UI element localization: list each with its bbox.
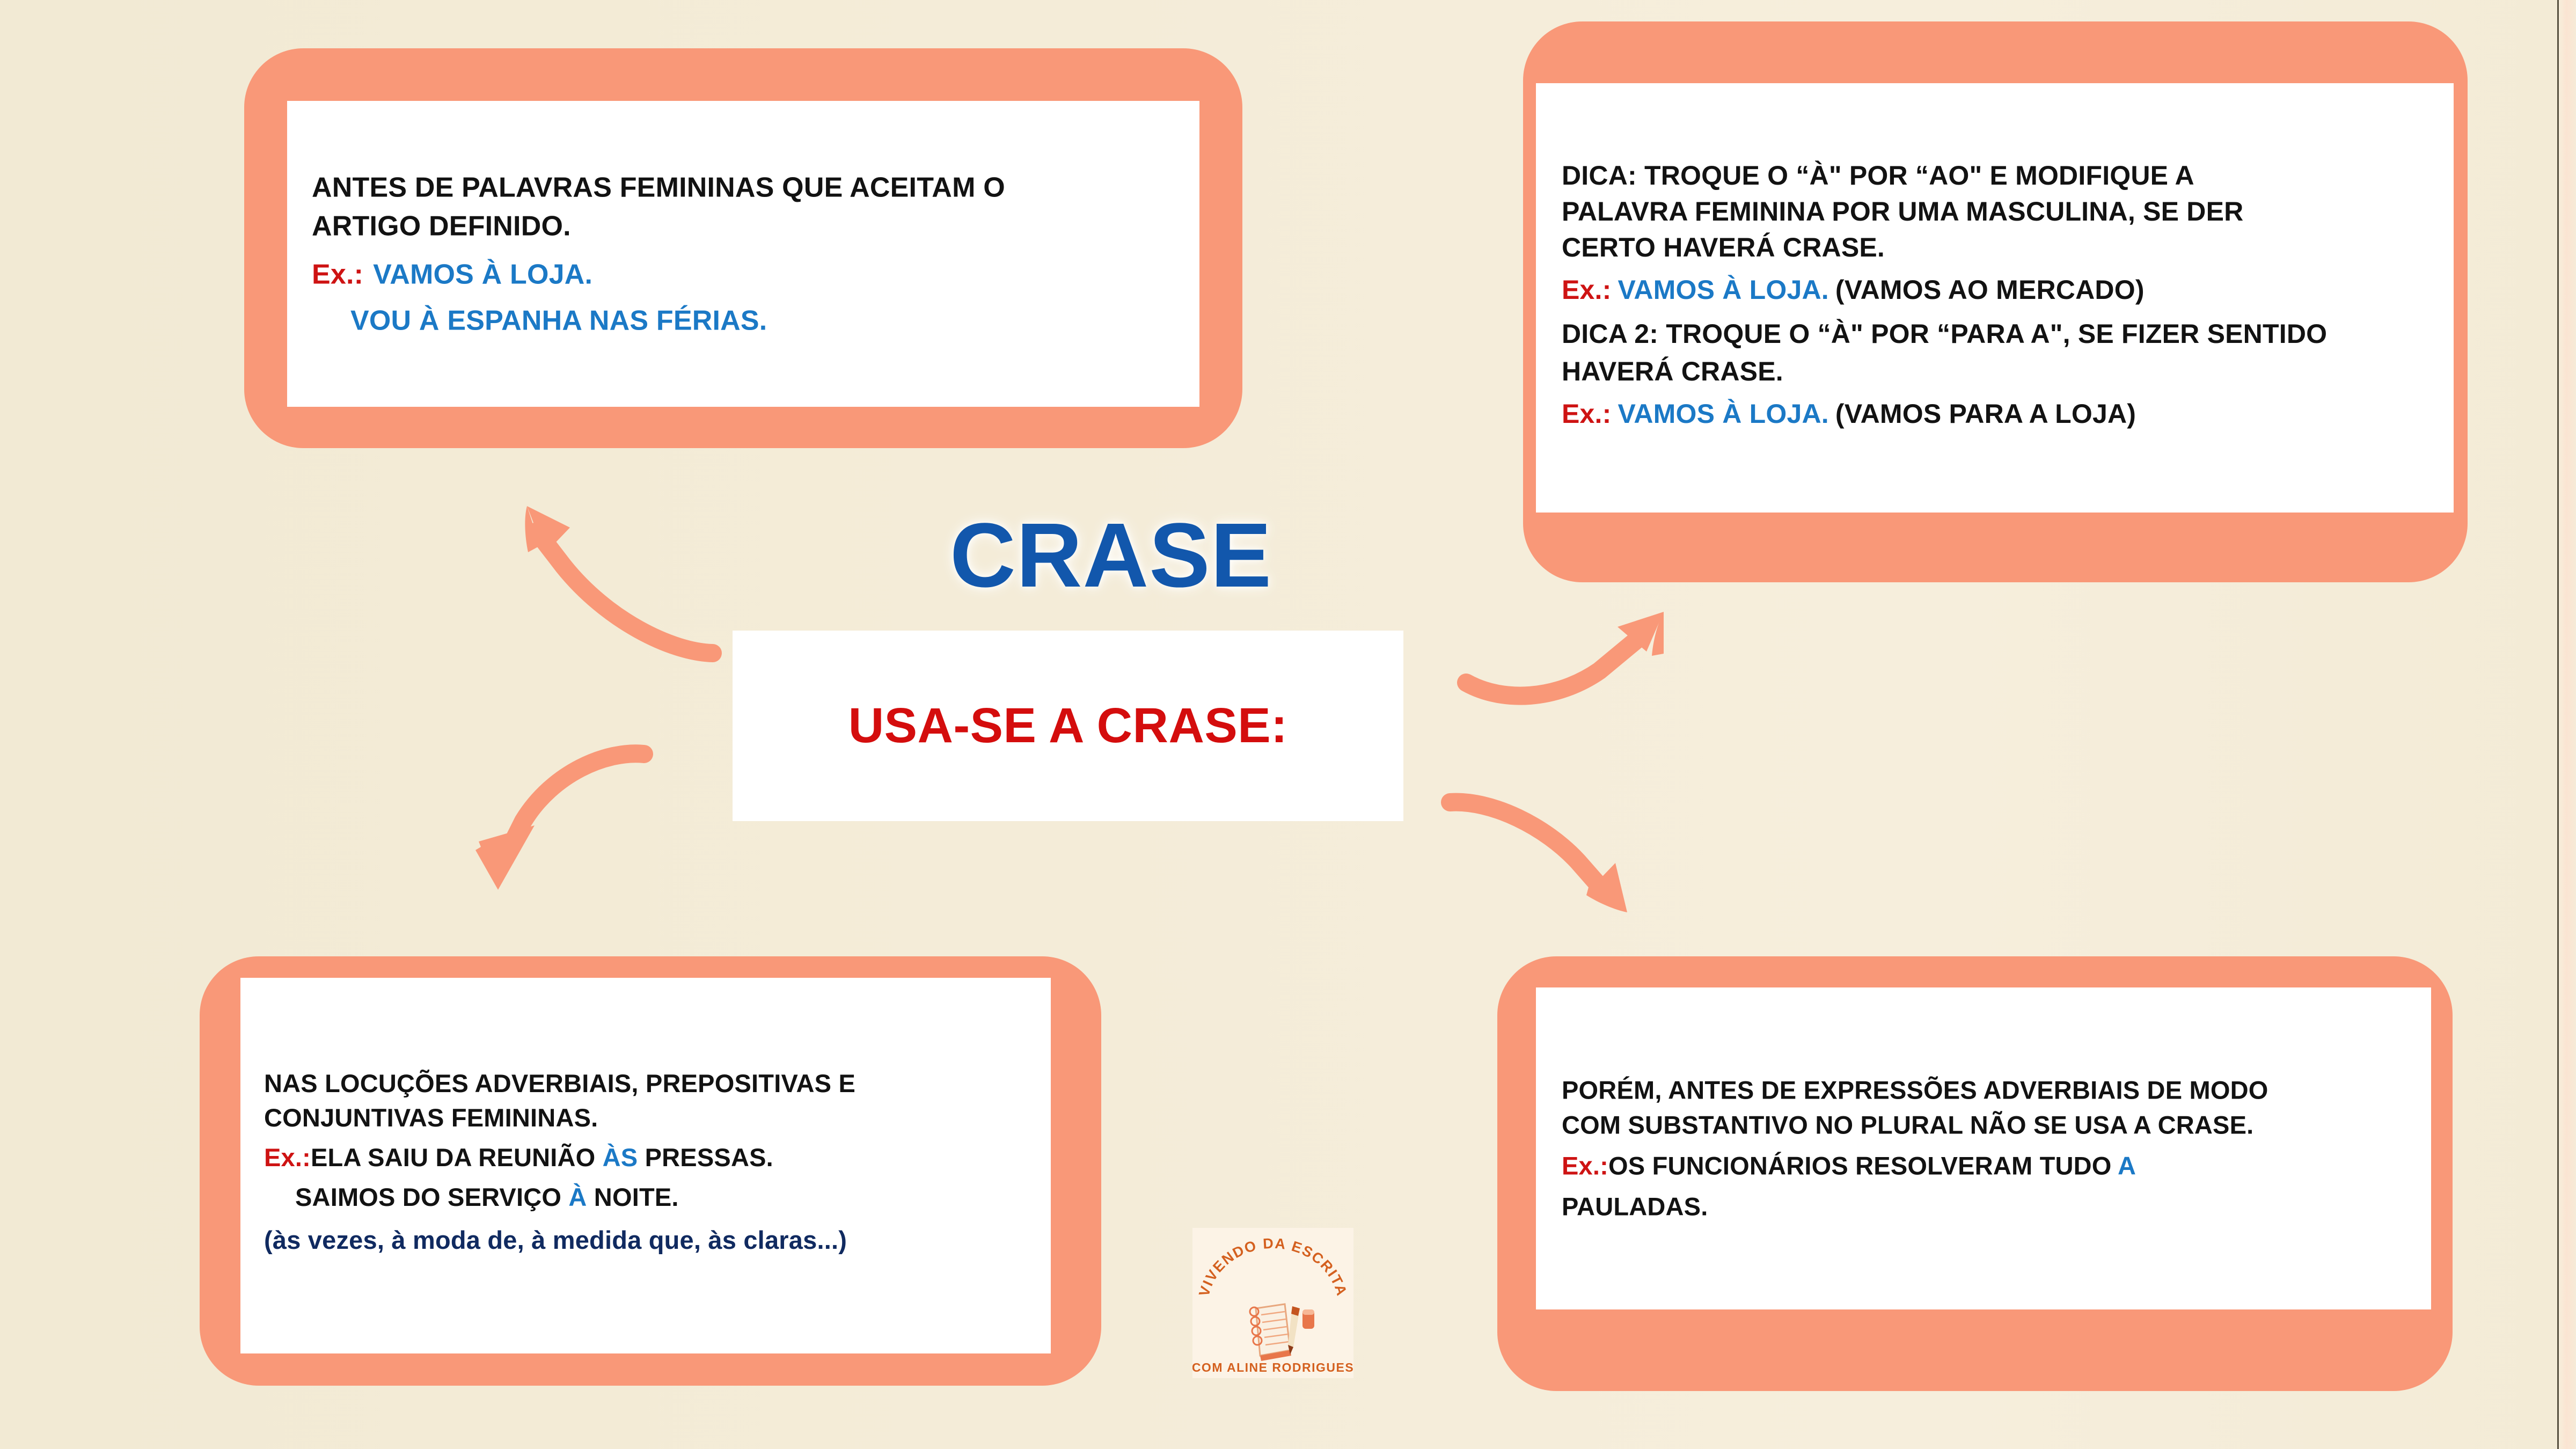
example-text: VAMOS À LOJA. bbox=[373, 259, 592, 290]
arrow-to-bottom-right bbox=[1428, 746, 1707, 928]
panel-card-bottom-right[interactable]: PORÉM, ANTES DE EXPRESSÕES ADVERBIAIS DE… bbox=[1536, 987, 2431, 1309]
text-line-example: Ex.:ELA SAIU DA REUNIÃO ÀS PRESSAS. bbox=[264, 1135, 1027, 1180]
panel-text-bottom-left: NAS LOCUÇÕES ADVERBIAIS, PREPOSITIVAS E … bbox=[240, 1066, 1051, 1265]
eraser-icon bbox=[1302, 1309, 1314, 1329]
svg-text:VIVENDO DA ESCRITA: VIVENDO DA ESCRITA bbox=[1196, 1235, 1350, 1298]
panel-card-top-right[interactable]: DICA: TROQUE O “À" POR “AO" E MODIFIQUE … bbox=[1536, 83, 2454, 513]
notebook-icon bbox=[1250, 1304, 1291, 1361]
right-edge-divider bbox=[2557, 0, 2559, 1449]
example-label: Ex.: bbox=[264, 1143, 311, 1172]
text-line-example: Ex.:VAMOS À LOJA.(VAMOS AO MERCADO) bbox=[1562, 266, 2428, 314]
arrow-to-top-right bbox=[1433, 596, 1701, 767]
slide-canvas: ANTES DE PALAVRAS FEMININAS QUE ACEITAM … bbox=[0, 0, 2576, 1449]
logo-bottom-text: COM ALINE RODRIGUES bbox=[1192, 1360, 1353, 1374]
text-line: ANTES DE PALAVRAS FEMININAS QUE ACEITAM … bbox=[312, 169, 1175, 208]
panel-card-top-left[interactable]: ANTES DE PALAVRAS FEMININAS QUE ACEITAM … bbox=[287, 101, 1199, 407]
crase-highlight: À bbox=[568, 1183, 587, 1212]
example-text: ELA SAIU DA REUNIÃO bbox=[311, 1143, 603, 1172]
pencil-icon bbox=[1288, 1306, 1300, 1355]
panel-text-bottom-right: PORÉM, ANTES DE EXPRESSÕES ADVERBIAIS DE… bbox=[1536, 1073, 2431, 1224]
text-line-example: SAIMOS DO SERVIÇO À NOITE. bbox=[264, 1180, 1027, 1216]
example-text: VOU À ESPANHA NAS FÉRIAS. bbox=[350, 305, 767, 336]
text-line: PALAVRA FEMININA POR UMA MASCULINA, SE D… bbox=[1562, 194, 2428, 230]
right-edge-strip bbox=[2559, 0, 2576, 1449]
panel-text-top-left: ANTES DE PALAVRAS FEMININAS QUE ACEITAM … bbox=[287, 169, 1199, 339]
logo-top-text: VIVENDO DA ESCRITA bbox=[1196, 1235, 1350, 1298]
example-text: OS FUNCIONÁRIOS RESOLVERAM TUDO bbox=[1608, 1151, 2118, 1180]
example-label: Ex.: bbox=[1562, 398, 1612, 428]
example-label: Ex.: bbox=[1562, 275, 1612, 305]
example-text: VAMOS À LOJA. bbox=[1618, 398, 1829, 428]
example-gloss: (VAMOS AO MERCADO) bbox=[1835, 275, 2145, 305]
arrow-to-bottom-left bbox=[429, 735, 698, 912]
text-line: NAS LOCUÇÕES ADVERBIAIS, PREPOSITIVAS E bbox=[264, 1066, 1027, 1101]
text-line: HAVERÁ CRASE. bbox=[1562, 353, 2428, 389]
panel-card-bottom-left[interactable]: NAS LOCUÇÕES ADVERBIAIS, PREPOSITIVAS E … bbox=[240, 978, 1051, 1353]
logo-graphic: VIVENDO DA ESCRITA bbox=[1192, 1228, 1353, 1378]
text-line: DICA 2: TROQUE O “À" POR “PARA A", SE FI… bbox=[1562, 314, 2428, 354]
brand-logo: VIVENDO DA ESCRITA bbox=[1192, 1228, 1353, 1378]
text-line-example: VOU À ESPANHA NAS FÉRIAS. bbox=[312, 303, 1175, 339]
text-line: PORÉM, ANTES DE EXPRESSÕES ADVERBIAIS DE… bbox=[1562, 1073, 2405, 1108]
text-line-note: (às vezes, à moda de, à medida que, às c… bbox=[264, 1216, 1027, 1265]
text-line: PAULADAS. bbox=[1562, 1189, 2405, 1224]
panel-text-top-right: DICA: TROQUE O “À" POR “AO" E MODIFIQUE … bbox=[1536, 158, 2454, 438]
text-line-example: Ex.:OS FUNCIONÁRIOS RESOLVERAM TUDO A bbox=[1562, 1143, 2405, 1189]
text-line: DICA: TROQUE O “À" POR “AO" E MODIFIQUE … bbox=[1562, 158, 2428, 194]
text-line: COM SUBSTANTIVO NO PLURAL NÃO SE USA A C… bbox=[1562, 1108, 2405, 1143]
arrow-to-top-left bbox=[445, 486, 724, 668]
text-line: CONJUNTIVAS FEMININAS. bbox=[264, 1101, 1027, 1135]
text-line: ARTIGO DEFINIDO. bbox=[312, 207, 1175, 246]
example-label: Ex.: bbox=[1562, 1151, 1608, 1180]
example-text: SAIMOS DO SERVIÇO bbox=[295, 1183, 568, 1212]
center-label: USA-SE A CRASE: bbox=[848, 698, 1288, 754]
example-text: VAMOS À LOJA. bbox=[1618, 275, 1829, 305]
example-gloss: (VAMOS PARA A LOJA) bbox=[1835, 398, 2136, 428]
example-text: NOITE. bbox=[587, 1183, 679, 1212]
crase-highlight: A bbox=[2118, 1151, 2136, 1180]
example-text: PRESSAS. bbox=[638, 1143, 773, 1172]
crase-highlight: ÀS bbox=[603, 1143, 638, 1172]
center-card[interactable]: USA-SE A CRASE: bbox=[733, 631, 1403, 821]
text-line: CERTO HAVERÁ CRASE. bbox=[1562, 230, 2428, 266]
text-line-example: Ex.:VAMOS À LOJA.(VAMOS PARA A LOJA) bbox=[1562, 389, 2428, 438]
text-line-example: Ex.:VAMOS À LOJA. bbox=[312, 246, 1175, 303]
example-label: Ex.: bbox=[312, 259, 363, 290]
page-title: CRASE bbox=[875, 510, 1347, 601]
